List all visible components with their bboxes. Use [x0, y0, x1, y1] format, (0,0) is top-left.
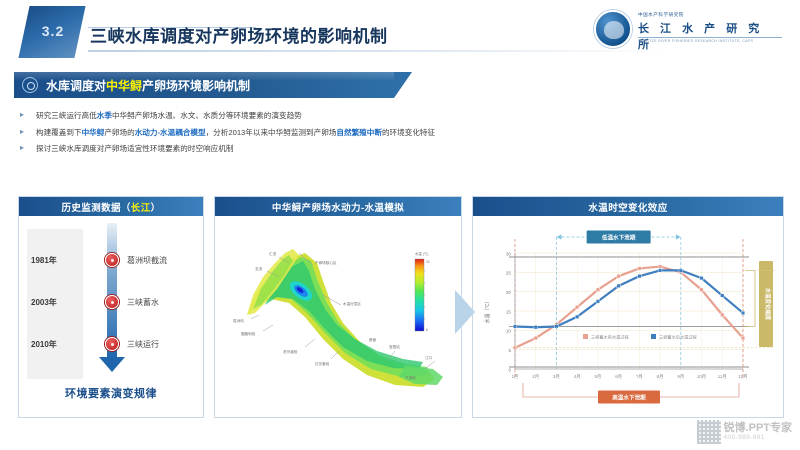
banner-text-before: 水库调度对 — [46, 79, 106, 93]
card-mid-header: 中华鲟产卵场水动力-水温模拟 — [215, 197, 461, 216]
bullet-keyword: 水季 — [97, 111, 112, 120]
timeline-year: 1981年 — [31, 255, 85, 266]
svg-text:胭脂坝段: 胭脂坝段 — [241, 331, 256, 336]
svg-text:11月: 11月 — [718, 374, 727, 380]
section-badge-number: 3.2 — [30, 23, 76, 39]
card-temperature-effect: 水温时空变化效应 051015202530水温（℃）1月2月3月4月5月6月7月… — [472, 196, 784, 418]
svg-text:4月: 4月 — [574, 374, 581, 380]
bullet-text: 中华鲟产卵场水温、水文、水质分等环境要素的演变趋势 — [112, 111, 302, 120]
bullet-keyword: 水动力-水温耦合模型 — [135, 128, 206, 137]
bullet-item: 探讨三峡水库调度对产卵场适宜性环境要素的时空响应机制 — [18, 145, 788, 153]
banner-text-highlight: 中华鲟 — [106, 79, 142, 93]
svg-text:江口: 江口 — [425, 355, 433, 360]
colorbar-label: 水温 (℃) — [415, 251, 428, 256]
bullet-item: 研究三峡运行高低水季中华鲟产卵场水温、水文、水质分等环境要素的演变趋势 — [18, 112, 788, 120]
bullet-list: 研究三峡运行高低水季中华鲟产卵场水温、水文、水质分等环境要素的演变趋势构建覆盖到… — [18, 112, 788, 162]
logo-main-line: 长 江 水 产 研 究 所 — [638, 20, 784, 52]
svg-text:15: 15 — [506, 309, 512, 314]
logo-english-line: YANGTZE RIVER FISHERIES RESEARCH INSTITU… — [638, 39, 753, 43]
bullet-text: 的环境变化特征 — [382, 128, 435, 137]
logo-divider — [638, 37, 782, 38]
watermark: 锐博.PPT专家 400-989-881 — [697, 420, 792, 444]
watermark-text: 锐博.PPT专家 — [724, 423, 792, 435]
gear-icon — [22, 77, 38, 93]
svg-text:下游段: 下游段 — [405, 375, 416, 380]
timeline-event-label: 三峡运行 — [127, 339, 201, 350]
colorbar-max: 24 — [426, 260, 430, 264]
logo-sub-line: 中国水产科学研究院 — [638, 12, 684, 18]
svg-text:5月: 5月 — [594, 374, 601, 380]
bullet-text: 构建覆盖到下 — [36, 128, 82, 137]
title-accent-line — [88, 27, 256, 28]
svg-text:10: 10 — [506, 329, 512, 334]
bullet-text: ，分析2013年以来中华鲟监测到产卵场 — [206, 128, 337, 137]
svg-text:6月: 6月 — [615, 374, 622, 380]
svg-text:水温（℃）: 水温（℃） — [484, 298, 491, 323]
subtitle-banner-tail — [394, 72, 412, 98]
bullet-text: 探讨三峡水库调度对产卵场适宜性环境要素的时空响应机制 — [36, 144, 233, 153]
svg-text:2月: 2月 — [532, 374, 539, 380]
card-left-title-before: 历史监测数据（ — [61, 200, 130, 214]
svg-text:宜昌站: 宜昌站 — [389, 344, 400, 349]
banner-text-after: 产卵场环境影响机制 — [142, 79, 250, 93]
bullet-keyword: 自然繁殖中断 — [336, 128, 382, 137]
svg-text:5: 5 — [508, 348, 511, 353]
timeline-arrow-icon — [99, 357, 125, 372]
contour-plot-image: 产卵场核心区 水温分层区 葛洲坝 胭脂坝段 虎牙滩段 红花套段 宜昌站 江口 支… — [219, 219, 459, 415]
svg-text:葛洲坝: 葛洲坝 — [233, 318, 244, 323]
svg-text:12月: 12月 — [738, 374, 747, 380]
svg-text:7月: 7月 — [636, 374, 643, 380]
card-left-header: 历史监测数据（长江） — [19, 197, 203, 216]
svg-text:1月: 1月 — [512, 374, 519, 380]
card-left-footer: 环境要素演变规律 — [19, 385, 203, 401]
timeline-marker-icon — [105, 253, 119, 267]
svg-text:高温水下泄期: 高温水下泄期 — [612, 394, 646, 402]
slide-header: 3.2 三峡水库调度对产卵场环境的影响机制 中国水产科学研究院 长 江 水 产 … — [0, 0, 800, 62]
timeline-event-label: 三峡蓄水 — [127, 297, 201, 308]
card-right-header: 水温时空变化效应 — [473, 197, 783, 216]
qr-code-icon — [697, 420, 721, 444]
bullet-item: 构建覆盖到下中华鲟产卵场的水动力-水温耦合模型，分析2013年以来中华鲟监测到产… — [18, 129, 788, 137]
svg-text:汇流: 汇流 — [269, 251, 277, 256]
flow-arrow-icon — [455, 290, 475, 334]
bullet-text: 研究三峡运行高低 — [36, 111, 97, 120]
card-historical-monitoring: 历史监测数据（长江） 1981年葛洲坝截流2003年三峡蓄水2010年三峡运行 … — [18, 196, 204, 418]
svg-text:三峡蓄水后水温过程: 三峡蓄水后水温过程 — [659, 334, 698, 341]
svg-text:3月: 3月 — [553, 374, 560, 380]
bullet-text: 产卵场的 — [104, 128, 134, 137]
svg-text:9月: 9月 — [677, 374, 684, 380]
svg-text:10月: 10月 — [697, 374, 706, 380]
svg-text:虎牙滩段: 虎牙滩段 — [283, 349, 298, 354]
card-hydrodynamic-simulation: 中华鲟产卵场水动力-水温模拟 — [214, 196, 462, 418]
timeline-year: 2010年 — [31, 339, 85, 350]
timeline-marker-icon — [105, 295, 119, 309]
institute-logo: 中国水产科学研究院 长 江 水 产 研 究 所 YANGTZE RIVER FI… — [594, 8, 784, 52]
svg-text:0: 0 — [508, 367, 511, 372]
header-divider — [88, 50, 668, 52]
svg-text:水温分层区: 水温分层区 — [343, 301, 361, 306]
bullet-keyword: 中华鲟 — [82, 128, 105, 137]
timeline-event-label: 葛洲坝截流 — [127, 255, 201, 266]
watermark-phone: 400-989-881 — [724, 434, 792, 441]
timeline-year: 2003年 — [31, 297, 85, 308]
page-title: 三峡水库调度对产卵场环境的影响机制 — [90, 22, 388, 47]
svg-text:20: 20 — [506, 290, 512, 295]
svg-text:产卵场核心区: 产卵场核心区 — [315, 260, 337, 265]
svg-text:25: 25 — [506, 271, 512, 276]
temperature-line-chart: 051015202530水温（℃）1月2月3月4月5月6月7月8月9月10月11… — [475, 219, 783, 417]
svg-text:断面: 断面 — [369, 337, 377, 342]
svg-text:支流: 支流 — [255, 266, 263, 271]
svg-text:低温水下泄期: 低温水下泄期 — [601, 234, 636, 242]
logo-emblem-icon — [594, 10, 632, 48]
card-left-title-after: ） — [151, 200, 161, 214]
card-left-title-highlight: 长江 — [131, 200, 151, 214]
svg-text:水温变化幅度: 水温变化幅度 — [764, 288, 772, 321]
subtitle-banner-text: 水库调度对中华鲟产卵场环境影响机制 — [46, 77, 250, 94]
svg-text:红花套段: 红花套段 — [315, 361, 330, 366]
svg-text:三峡蓄水前水温过程: 三峡蓄水前水温过程 — [591, 334, 630, 341]
svg-text:30: 30 — [506, 251, 512, 256]
timeline-marker-icon — [105, 337, 119, 351]
colorbar-min: 8 — [426, 328, 428, 332]
svg-text:8月: 8月 — [657, 374, 664, 380]
